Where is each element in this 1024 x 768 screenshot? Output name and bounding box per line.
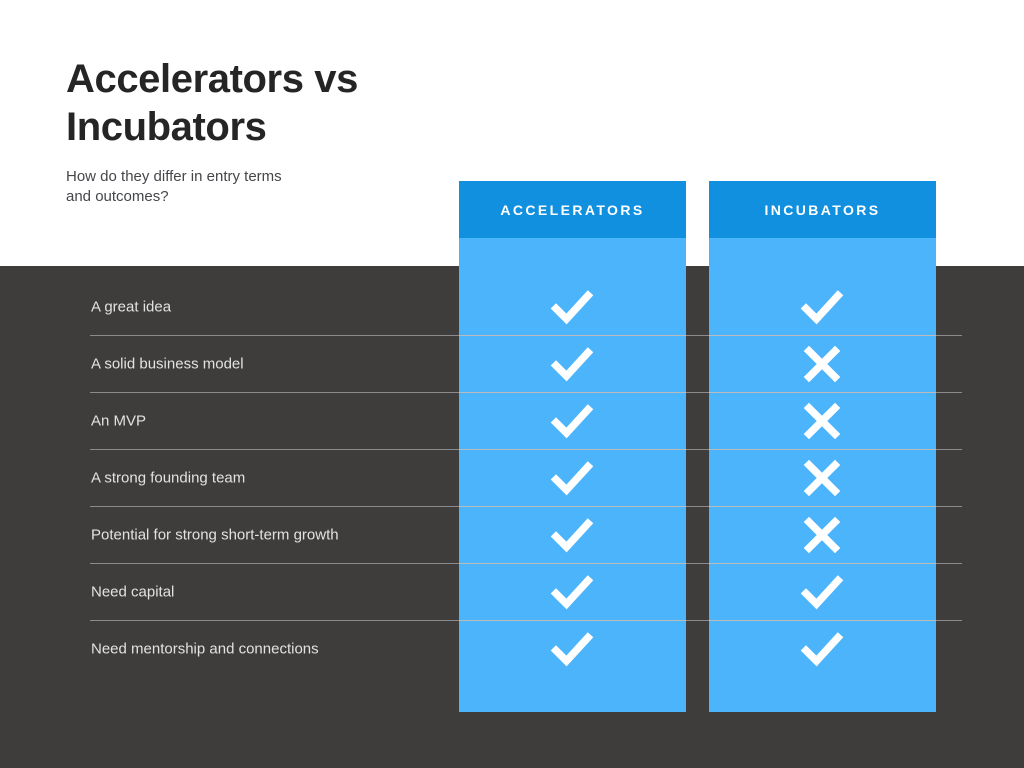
table-row: Need capital xyxy=(0,563,1024,620)
table-row: Need mentorship and connections xyxy=(0,620,1024,677)
page-title: Accelerators vs Incubators xyxy=(66,55,486,151)
cross-icon xyxy=(800,513,844,557)
row-label: A solid business model xyxy=(91,355,244,372)
check-icon xyxy=(550,513,594,557)
table-row: A strong founding team xyxy=(0,449,1024,506)
cross-icon xyxy=(800,342,844,386)
table-row: A solid business model xyxy=(0,335,1024,392)
row-label: Potential for strong short-term growth xyxy=(91,526,339,543)
column-header-accelerators: Accelerators xyxy=(459,181,686,238)
check-icon xyxy=(550,285,594,329)
check-icon xyxy=(550,342,594,386)
page-subtitle: How do they differ in entry terms and ou… xyxy=(66,167,396,207)
cross-icon xyxy=(800,456,844,500)
check-icon xyxy=(550,627,594,671)
column-header-label-accelerators: Accelerators xyxy=(500,202,644,218)
table-row: Potential for strong short-term growth xyxy=(0,506,1024,563)
column-header-incubators: Incubators xyxy=(709,181,936,238)
check-icon xyxy=(550,399,594,443)
check-icon xyxy=(800,627,844,671)
table-row: An MVP xyxy=(0,392,1024,449)
column-header-label-incubators: Incubators xyxy=(764,202,880,218)
check-icon xyxy=(550,570,594,614)
check-icon xyxy=(800,570,844,614)
row-label: Need mentorship and connections xyxy=(91,640,319,657)
table-row: A great idea xyxy=(0,278,1024,335)
check-icon xyxy=(800,285,844,329)
row-label: Need capital xyxy=(91,583,174,600)
row-label: An MVP xyxy=(91,412,146,429)
check-icon xyxy=(550,456,594,500)
row-label: A great idea xyxy=(91,298,171,315)
cross-icon xyxy=(800,399,844,443)
comparison-rows: A great ideaA solid business modelAn MVP… xyxy=(0,278,1024,698)
row-label: A strong founding team xyxy=(91,469,245,486)
infographic-canvas: Accelerators vs Incubators How do they d… xyxy=(0,0,1024,768)
